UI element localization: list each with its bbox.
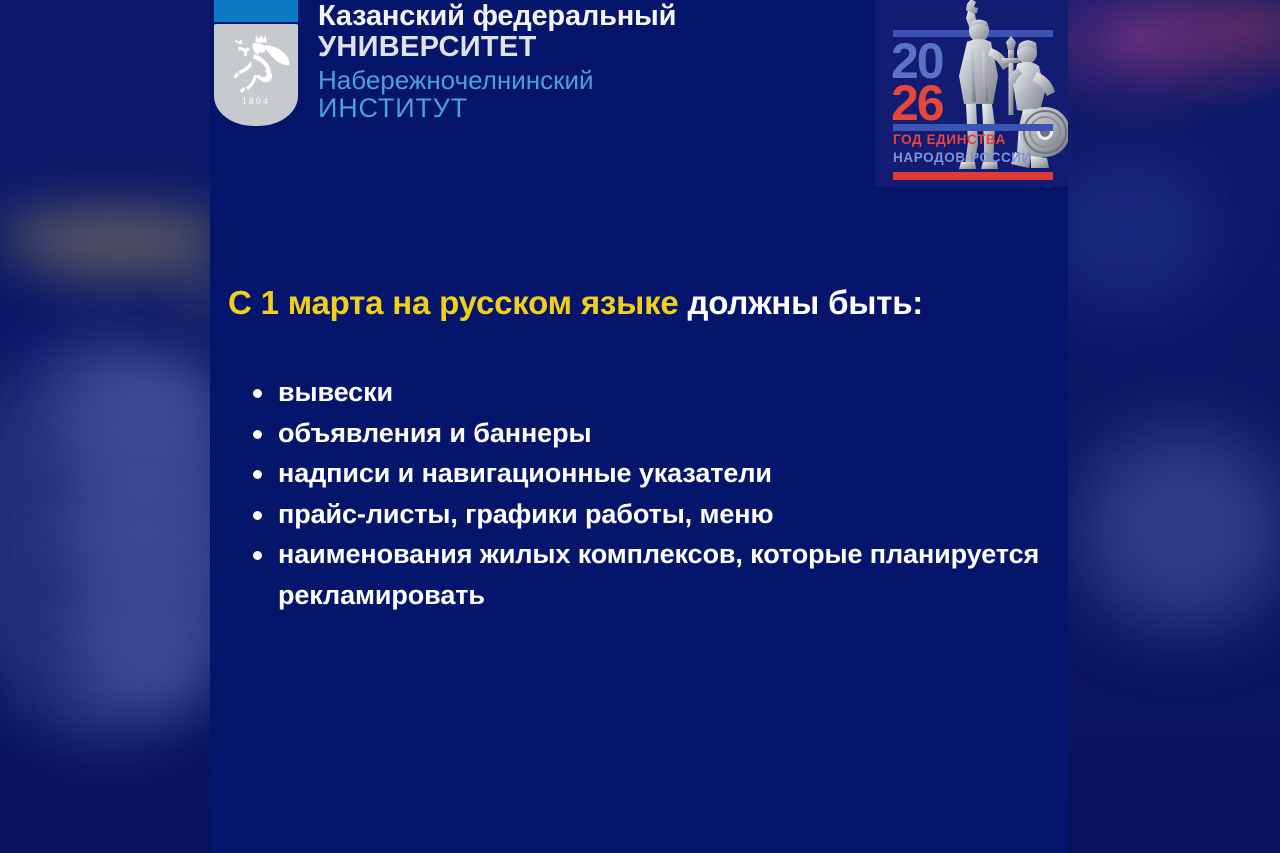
list-item: наименования жилых комплексов, которые п…	[240, 534, 1040, 615]
blurred-backdrop-right	[1068, 0, 1280, 853]
slide-headline: С 1 марта на русском языке должны быть:	[228, 284, 1048, 322]
badge-caption-line1: ГОД ЕДИНСТВА	[893, 132, 1006, 147]
badge-rule-mid	[893, 124, 1053, 131]
bullet-dot-icon	[253, 551, 262, 560]
bullet-dot-icon	[253, 430, 262, 439]
kfu-wordmark: Казанский федеральный УНИВЕРСИТЕТ Набере…	[318, 0, 676, 122]
badge-caption-line2: НАРОДОВ РОССИИ	[893, 150, 1032, 165]
shield-top-bar	[214, 0, 298, 22]
kfu-name-line1: Казанский федеральный	[318, 2, 676, 32]
badge-bottom-bar	[893, 172, 1053, 180]
bullet-dot-icon	[253, 470, 262, 479]
backdrop-text-row	[76, 668, 214, 696]
kfu-institute-line2: ИНСТИТУТ	[318, 94, 676, 122]
slide-screenshot: 1804 Казанский федеральный УНИВЕРСИТЕТ Н…	[0, 0, 1280, 853]
headline-rest: должны быть:	[679, 284, 924, 321]
year-of-unity-badge: 20 26	[875, 0, 1068, 186]
list-item-label: наименования жилых комплексов, которые п…	[278, 539, 1039, 610]
kfu-name-line2: УНИВЕРСИТЕТ	[318, 32, 676, 62]
slide-header: 1804 Казанский федеральный УНИВЕРСИТЕТ Н…	[210, 0, 1068, 196]
kfu-institute-line1: Набережночелнинский	[318, 66, 676, 94]
list-item: объявления и баннеры	[240, 413, 1040, 454]
list-item-label: объявления и баннеры	[278, 418, 591, 448]
zilant-dragon-icon	[218, 28, 294, 102]
blurred-backdrop-left	[0, 0, 214, 853]
backdrop-text-row	[66, 470, 214, 500]
backdrop-glow	[1078, 430, 1280, 630]
slide-panel: 1804 Казанский федеральный УНИВЕРСИТЕТ Н…	[210, 0, 1068, 853]
list-item-label: надписи и навигационные указатели	[278, 458, 772, 488]
list-item: прайс-листы, графики работы, меню	[240, 494, 1040, 535]
backdrop-text-row	[70, 570, 214, 600]
backdrop-glow-2	[1068, 150, 1218, 310]
bullet-dot-icon	[253, 511, 262, 520]
requirements-list: вывески объявления и баннеры надписи и н…	[240, 372, 1040, 615]
list-item-label: вывески	[278, 377, 393, 407]
bullet-dot-icon	[253, 389, 262, 398]
kfu-logo: 1804 Казанский федеральный УНИВЕРСИТЕТ Н…	[210, 0, 676, 134]
kfu-shield-icon: 1804	[210, 0, 302, 134]
list-item: вывески	[240, 372, 1040, 413]
shield-year-label: 1804	[214, 96, 298, 106]
backdrop-gold-smear-2	[26, 248, 214, 282]
list-item-label: прайс-листы, графики работы, меню	[278, 499, 773, 529]
headline-accent: С 1 марта на русском языке	[228, 284, 679, 321]
list-item: надписи и навигационные указатели	[240, 453, 1040, 494]
